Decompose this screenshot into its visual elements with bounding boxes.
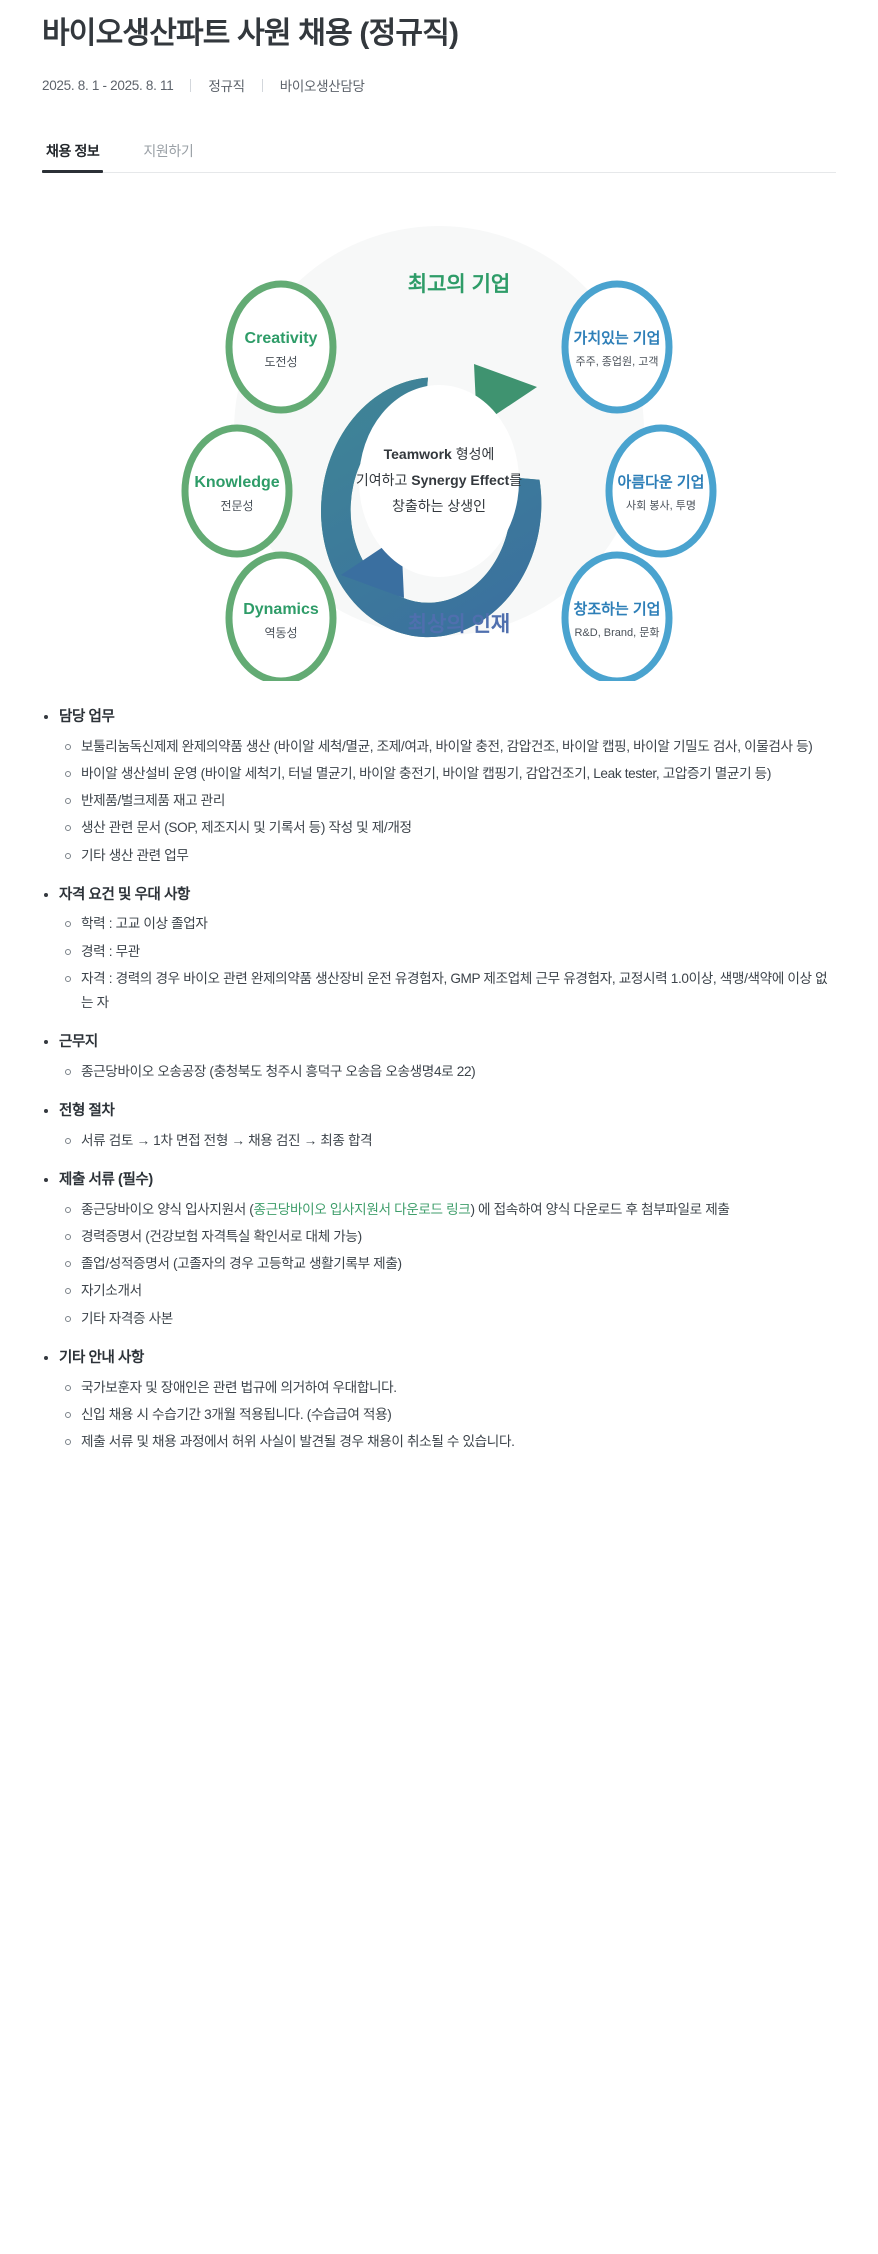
tab-apply[interactable]: 지원하기: [139, 141, 197, 172]
section-heading: 전형 절차: [42, 1101, 836, 1123]
vision-diagram-svg: 최고의 기업 최상의 인재 Teamwork 형성에 기여하고 Synergy …: [159, 191, 719, 681]
list-item: 국가보훈자 및 장애인은 관련 법규에 의거하여 우대합니다.: [64, 1376, 836, 1400]
section-items: 종근당바이오 양식 입사지원서 (종근당바이오 입사지원서 다운로드 링크) 에…: [42, 1198, 836, 1331]
node-creative-company: 창조하는 기업 R&D, Brand, 문화: [565, 555, 669, 681]
application-form-download-link[interactable]: 종근당바이오 입사지원서 다운로드 링크: [254, 1202, 471, 1217]
node-creativity: Creativity 도전성: [229, 284, 333, 410]
center-line1-rest: 형성에: [452, 446, 495, 462]
list-item: 경력증명서 (건강보험 자격특실 확인서로 대체 가능): [64, 1225, 836, 1249]
list-item: 학력 : 고교 이상 졸업자: [64, 912, 836, 936]
application-form-post: ) 에 접속하여 양식 다운로드 후 첨부파일로 제출: [470, 1202, 729, 1217]
page-title: 바이오생산파트 사원 채용 (정규직): [42, 0, 836, 53]
node-creative-title: 창조하는 기업: [574, 601, 661, 618]
node-creativity-sub: 도전성: [264, 355, 297, 369]
meta-divider: [190, 79, 191, 92]
node-valuable-title: 가치있는 기업: [574, 329, 661, 347]
list-item: 기타 생산 관련 업무: [64, 844, 836, 868]
node-creative-sub: R&D, Brand, 문화: [574, 626, 659, 639]
center-bold-teamwork: Teamwork: [384, 446, 452, 462]
application-form-pre: 종근당바이오 양식 입사지원서 (: [81, 1202, 254, 1217]
section-items: 국가보훈자 및 장애인은 관련 법규에 의거하여 우대합니다. 신입 채용 시 …: [42, 1376, 836, 1455]
section-items: 서류 검토 → 1차 면접 전형 → 채용 검진 → 최종 합격: [42, 1129, 836, 1153]
vision-diagram: 최고의 기업 최상의 인재 Teamwork 형성에 기여하고 Synergy …: [159, 191, 719, 681]
section-workplace: 근무지 종근당바이오 오송공장 (충청북도 청주시 흥덕구 오송읍 오송생명4로…: [42, 1032, 836, 1084]
diagram-bottom-label: 최상의 인재: [408, 613, 510, 636]
svg-text:기여하고 Synergy Effect를: 기여하고 Synergy Effect를: [356, 472, 522, 488]
job-posting-page: 바이오생산파트 사원 채용 (정규직) 2025. 8. 1 - 2025. 8…: [0, 0, 878, 2254]
node-knowledge-title: Knowledge: [194, 474, 279, 491]
list-item: 자기소개서: [64, 1279, 836, 1303]
section-qualifications: 자격 요건 및 우대 사항 학력 : 고교 이상 졸업자 경력 : 무관 자격 …: [42, 885, 836, 1016]
list-item: 종근당바이오 오송공장 (충청북도 청주시 흥덕구 오송읍 오송생명4로 22): [64, 1060, 836, 1084]
list-item: 반제품/벌크제품 재고 관리: [64, 789, 836, 813]
section-items: 종근당바이오 오송공장 (충청북도 청주시 흥덕구 오송읍 오송생명4로 22): [42, 1060, 836, 1084]
section-items: 학력 : 고교 이상 졸업자 경력 : 무관 자격 : 경력의 경우 바이오 관…: [42, 912, 836, 1015]
section-heading: 자격 요건 및 우대 사항: [42, 885, 836, 907]
center-line2-post: 를: [509, 472, 522, 488]
meta-divider: [262, 79, 263, 92]
node-beautiful-title: 아름다운 기업: [618, 474, 705, 491]
list-item: 보툴리눔독신제제 완제의약품 생산 (바이알 세척/멸균, 조제/여과, 바이알…: [64, 735, 836, 759]
job-sections: 담당 업무 보툴리눔독신제제 완제의약품 생산 (바이알 세척/멸균, 조제/여…: [42, 707, 836, 1454]
list-item-application-form: 종근당바이오 양식 입사지원서 (종근당바이오 입사지원서 다운로드 링크) 에…: [64, 1198, 836, 1222]
list-item: 기타 자격증 사본: [64, 1307, 836, 1331]
department: 바이오생산담당: [280, 75, 365, 95]
node-valuable-sub: 주주, 종업원, 고객: [575, 355, 658, 368]
list-item: 생산 관련 문서 (SOP, 제조지시 및 기록서 등) 작성 및 제/개정: [64, 816, 836, 840]
tab-job-info[interactable]: 채용 정보: [42, 141, 103, 172]
diagram-top-label: 최고의 기업: [408, 273, 510, 296]
list-item: 서류 검토 → 1차 면접 전형 → 채용 검진 → 최종 합격: [64, 1129, 836, 1153]
section-duties: 담당 업무 보툴리눔독신제제 완제의약품 생산 (바이알 세척/멸균, 조제/여…: [42, 707, 836, 868]
section-items: 보툴리눔독신제제 완제의약품 생산 (바이알 세척/멸균, 조제/여과, 바이알…: [42, 735, 836, 868]
list-item: 경력 : 무관: [64, 940, 836, 964]
node-knowledge: Knowledge 전문성: [185, 428, 289, 554]
center-line3: 창출하는 상생인: [392, 498, 486, 514]
posting-period: 2025. 8. 1 - 2025. 8. 11: [42, 78, 173, 93]
node-valuable-company: 가치있는 기업 주주, 종업원, 고객: [565, 284, 669, 410]
node-creativity-title: Creativity: [245, 330, 318, 347]
svg-text:Teamwork 형성에: Teamwork 형성에: [384, 446, 495, 462]
tab-bar: 채용 정보 지원하기: [42, 141, 836, 173]
node-knowledge-sub: 전문성: [220, 499, 253, 513]
employment-type: 정규직: [208, 75, 244, 95]
list-item: 신입 채용 시 수습기간 3개월 적용됩니다. (수습급여 적용): [64, 1403, 836, 1427]
list-item: 자격 : 경력의 경우 바이오 관련 완제의약품 생산장비 운전 유경험자, G…: [64, 967, 836, 1015]
node-dynamics-sub: 역동성: [264, 626, 297, 640]
section-documents: 제출 서류 (필수) 종근당바이오 양식 입사지원서 (종근당바이오 입사지원서…: [42, 1170, 836, 1331]
node-beautiful-sub: 사회 봉사, 투명: [626, 499, 696, 512]
list-item: 졸업/성적증명서 (고졸자의 경우 고등학교 생활기록부 제출): [64, 1252, 836, 1276]
list-item: 바이알 생산설비 운영 (바이알 세척기, 터널 멸균기, 바이알 충전기, 바…: [64, 762, 836, 786]
center-bold-synergy: Synergy Effect: [411, 472, 509, 488]
center-line2-pre: 기여하고: [356, 472, 411, 488]
section-heading: 근무지: [42, 1032, 836, 1054]
section-heading: 제출 서류 (필수): [42, 1170, 836, 1192]
job-detail-content: 담당 업무 보툴리눔독신제제 완제의약품 생산 (바이알 세척/멸균, 조제/여…: [42, 707, 836, 1511]
section-process: 전형 절차 서류 검토 → 1차 면접 전형 → 채용 검진 → 최종 합격: [42, 1101, 836, 1153]
node-dynamics-title: Dynamics: [243, 601, 319, 618]
list-item: 제출 서류 및 채용 과정에서 허위 사실이 발견될 경우 채용이 취소될 수 …: [64, 1430, 836, 1454]
node-beautiful-company: 아름다운 기업 사회 봉사, 투명: [609, 428, 713, 554]
section-heading: 담당 업무: [42, 707, 836, 729]
node-dynamics: Dynamics 역동성: [229, 555, 333, 681]
section-heading: 기타 안내 사항: [42, 1348, 836, 1370]
section-notes: 기타 안내 사항 국가보훈자 및 장애인은 관련 법규에 의거하여 우대합니다.…: [42, 1348, 836, 1454]
posting-meta: 2025. 8. 1 - 2025. 8. 11 정규직 바이오생산담당: [42, 75, 836, 95]
